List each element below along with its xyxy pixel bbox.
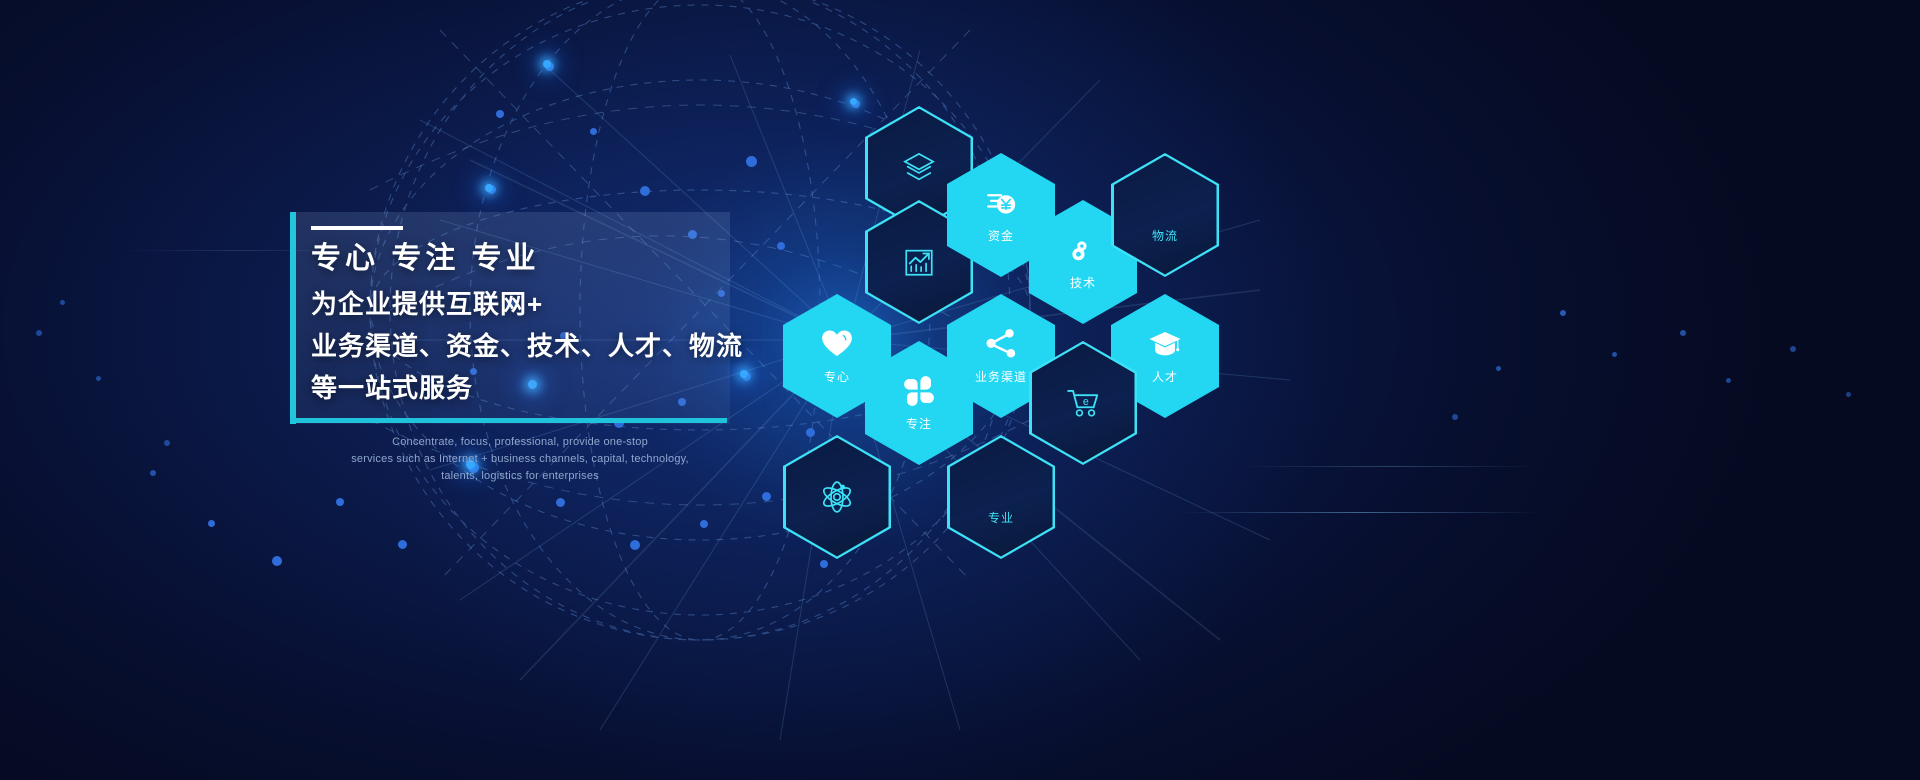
hero-banner: 专心 专注 专业 为企业提供互联网+ 业务渠道、资金、技术、人才、物流 等一站式… xyxy=(0,0,1920,780)
english-subtitle-line-3: talents, logistics for enterprises xyxy=(290,468,750,485)
atom-icon xyxy=(818,480,856,514)
hex-label: 技术 xyxy=(1070,274,1096,291)
clover-icon xyxy=(900,374,938,408)
subline-1: 为企业提供互联网+ xyxy=(311,291,781,317)
hex-label: 专心 xyxy=(824,368,850,385)
headline-block: 专心 专注 专业 为企业提供互联网+ 业务渠道、资金、技术、人才、物流 等一站式… xyxy=(311,226,781,417)
diamond-icon xyxy=(982,468,1020,502)
yen-coin-icon xyxy=(982,186,1020,220)
share-nodes-icon xyxy=(982,327,1020,361)
subline-3: 等一站式服务 xyxy=(311,375,781,401)
graduation-cap-icon xyxy=(1146,327,1184,361)
english-subtitle-line-2: services such as Internet + business cha… xyxy=(290,451,750,468)
hex-label: 业务渠道 xyxy=(975,368,1027,385)
headline: 专心 专注 专业 xyxy=(311,244,781,274)
hex-label: 专注 xyxy=(906,415,932,432)
heart-icon xyxy=(818,327,856,361)
english-subtitle-line-1: Concentrate, focus, professional, provid… xyxy=(290,434,750,451)
truck-icon xyxy=(1146,186,1184,220)
hex-label: 物流 xyxy=(1152,227,1178,244)
headline-rule xyxy=(311,226,403,230)
hex-label: 专业 xyxy=(988,509,1014,526)
chart-growth-icon xyxy=(900,245,938,279)
subline-2: 业务渠道、资金、技术、人才、物流 xyxy=(311,333,781,359)
english-subtitle: Concentrate, focus, professional, provid… xyxy=(290,434,750,485)
hex-label: 人才 xyxy=(1152,368,1178,385)
hex-label: 资金 xyxy=(988,227,1014,244)
layers-icon xyxy=(900,151,938,185)
panel-underline xyxy=(290,418,727,423)
hexagon-cluster: 资金技术物流专心业务渠道人才专注专业 xyxy=(745,100,1305,530)
gears-icon xyxy=(1064,233,1102,267)
shopping-cart-e-icon xyxy=(1064,386,1102,420)
